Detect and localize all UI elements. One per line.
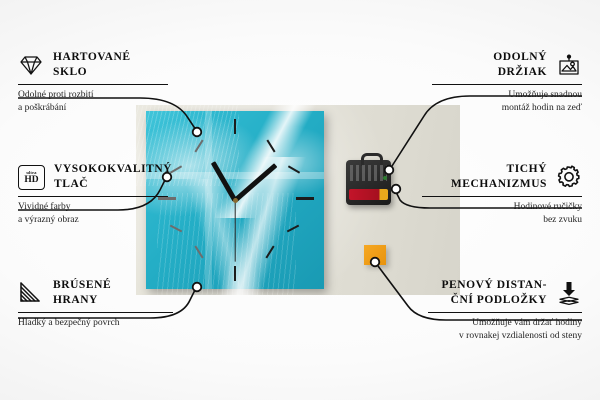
feature-title: HARTOVANÉ SKLO [53,50,131,80]
feature-title-line1: VYSOKOKVALITNÝ [54,163,172,175]
feature-title: PENOVÝ DISTAN- ČNÍ PODLOŽKY [441,278,547,308]
leader-dot-1 [193,128,202,137]
leader-dot-6 [371,258,380,267]
feature-title-line1: BRÚSENÉ [53,279,111,291]
leader-dot-3 [193,283,202,292]
feature-desc-line2: v rovnakej vzdialenosti od steny [459,331,582,341]
feature-high-quality-print: ultra HD VYSOKOKVALITNÝ TLAČ Vividné far… [18,162,168,227]
feature-description: Vividné farby a výrazný obraz [18,201,168,227]
feature-header: ultra HD VYSOKOKVALITNÝ TLAČ [18,162,168,192]
feature-desc-line2: montáž hodin na zeď [502,103,582,113]
feature-header: HARTOVANÉ SKLO [18,50,168,80]
feature-title-line1: ODOLNÝ [493,51,547,63]
feature-desc-line2: bez zvuku [543,215,582,225]
feature-desc-line1: Hladký a bezpečný povrch [18,318,120,328]
feature-beveled-edges: BRÚSENÉ HRANY Hladký a bezpečný povrch [18,278,173,330]
feature-description: Hladký a bezpečný povrch [18,317,173,330]
feature-foam-spacers: PENOVÝ DISTAN- ČNÍ PODLOŽKY Umožňuje vám… [428,278,582,343]
leader-dot-5 [392,185,401,194]
leader-dot-4 [385,166,394,175]
feature-title-line2: DRŽIAK [498,66,547,78]
feature-title-line2: ČNÍ PODLOŽKY [451,294,547,306]
feature-title-line1: PENOVÝ DISTAN- [441,279,547,291]
feature-title-line2: SKLO [53,66,87,78]
feature-divider [18,84,168,85]
infographic-stage: HARTOVANÉ SKLO Odolné proti rozbití a po… [0,0,600,400]
feature-title-line2: HRANY [53,294,98,306]
feature-header: BRÚSENÉ HRANY [18,278,173,308]
ultra-hd-badge-bottom: HD [24,175,38,185]
feature-description: Umožňuje snadnou montáž hodin na zeď [432,89,582,115]
feature-desc-line1: Umožňuje vám držať hodiny [472,318,582,328]
picture-hanger-icon [556,52,582,78]
feature-description: Odolné proti rozbití a poškrábání [18,89,168,115]
feature-description: Umožňuje vám držať hodiny v rovnakej vzd… [428,317,582,343]
feature-header: TICHÝ MECHANIZMUS [422,162,582,192]
feature-desc-line1: Hodinové ručičky [514,202,582,212]
feature-divider [18,196,168,197]
feature-divider [432,84,582,85]
diamond-icon [18,52,44,78]
feature-header: PENOVÝ DISTAN- ČNÍ PODLOŽKY [428,278,582,308]
beveled-edges-icon [18,280,44,306]
feature-description: Hodinové ručičky bez zvuku [422,201,582,227]
feature-title: VYSOKOKVALITNÝ TLAČ [54,162,172,192]
gear-icon [556,164,582,190]
feature-title-line1: TICHÝ [507,163,547,175]
foam-spacer-icon [556,280,582,306]
feature-desc-line1: Umožňuje snadnou [508,90,582,100]
feature-desc-line1: Vividné farby [18,202,70,212]
feature-title: ODOLNÝ DRŽIAK [493,50,547,80]
feature-desc-line1: Odolné proti rozbití [18,90,93,100]
feature-divider [428,312,582,313]
feature-title: TICHÝ MECHANIZMUS [451,162,547,192]
feature-title-line2: MECHANIZMUS [451,178,547,190]
feature-silent-mechanism: TICHÝ MECHANIZMUS Hodinové ručičky bez z… [422,162,582,227]
ultra-hd-icon: ultra HD [18,165,45,190]
feature-divider [18,312,173,313]
feature-durable-hanger: ODOLNÝ DRŽIAK Umožňuje snadnou montáž ho… [432,50,582,115]
feature-title-line1: HARTOVANÉ [53,51,131,63]
feature-desc-line2: a výrazný obraz [18,215,79,225]
feature-divider [422,196,582,197]
feature-title-line2: TLAČ [54,178,88,190]
feature-title: BRÚSENÉ HRANY [53,278,111,308]
feature-tempered-glass: HARTOVANÉ SKLO Odolné proti rozbití a po… [18,50,168,115]
feature-header: ODOLNÝ DRŽIAK [432,50,582,80]
feature-desc-line2: a poškrábání [18,103,66,113]
